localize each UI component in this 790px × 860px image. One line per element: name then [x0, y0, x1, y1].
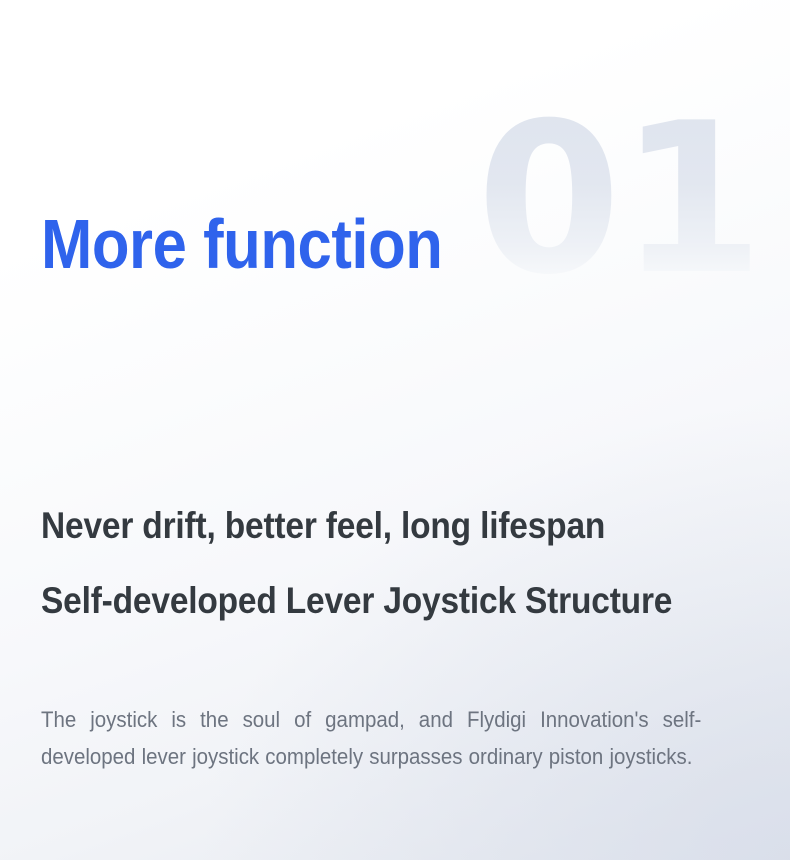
- section-number-watermark: 01: [477, 96, 762, 304]
- subheadline-line-1: Never drift, better feel, long lifespan: [41, 488, 693, 563]
- subheadline-line-2: Self-developed Lever Joystick Structure: [41, 563, 693, 638]
- page-title: More function: [41, 209, 442, 280]
- body-paragraph-text: The joystick is the soul of gampad, and …: [41, 701, 701, 775]
- feature-section-page: 01 More function Never drift, better fee…: [0, 0, 790, 860]
- subheadline: Never drift, better feel, long lifespan …: [41, 488, 693, 638]
- body-paragraph: The joystick is the soul of gampad, and …: [41, 701, 701, 775]
